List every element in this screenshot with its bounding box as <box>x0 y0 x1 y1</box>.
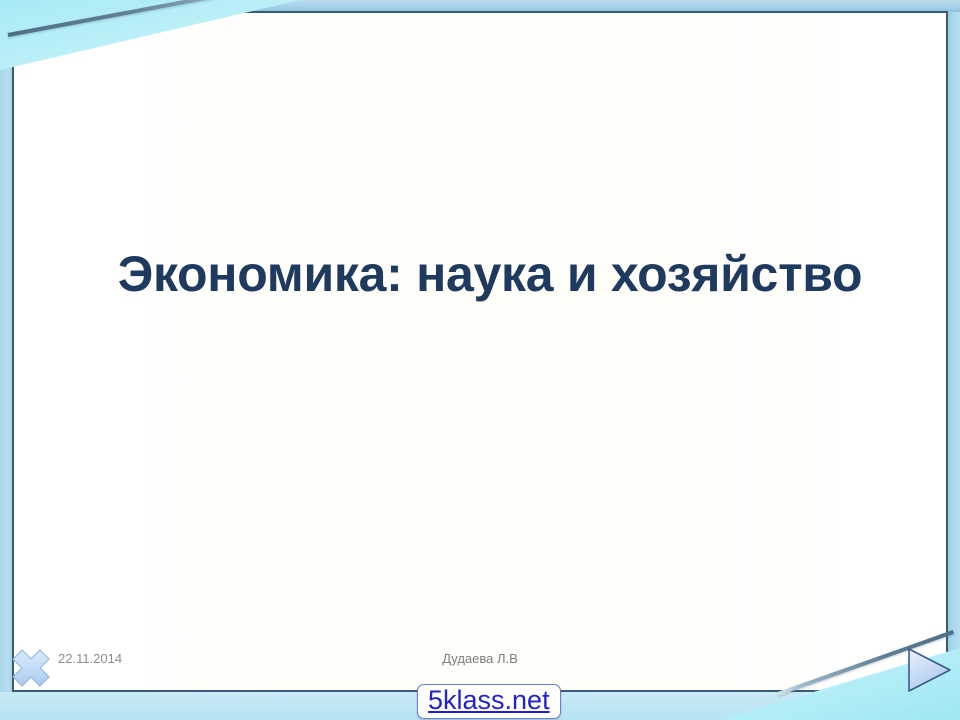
title-block: Экономика: наука и хозяйство <box>60 246 920 304</box>
presentation-slide: Экономика: наука и хозяйство 22.11.2014 … <box>0 0 960 720</box>
footer-author: Дудаева Л.В <box>0 651 960 666</box>
play-arrow-icon[interactable] <box>903 645 955 695</box>
page-title: Экономика: наука и хозяйство <box>60 246 920 304</box>
right-accent-band <box>948 0 960 720</box>
watermark-badge[interactable]: 5klass.net <box>417 684 561 719</box>
watermark-label[interactable]: 5klass.net <box>428 685 550 715</box>
cross-icon <box>8 645 54 691</box>
slide-content-frame <box>12 11 948 692</box>
